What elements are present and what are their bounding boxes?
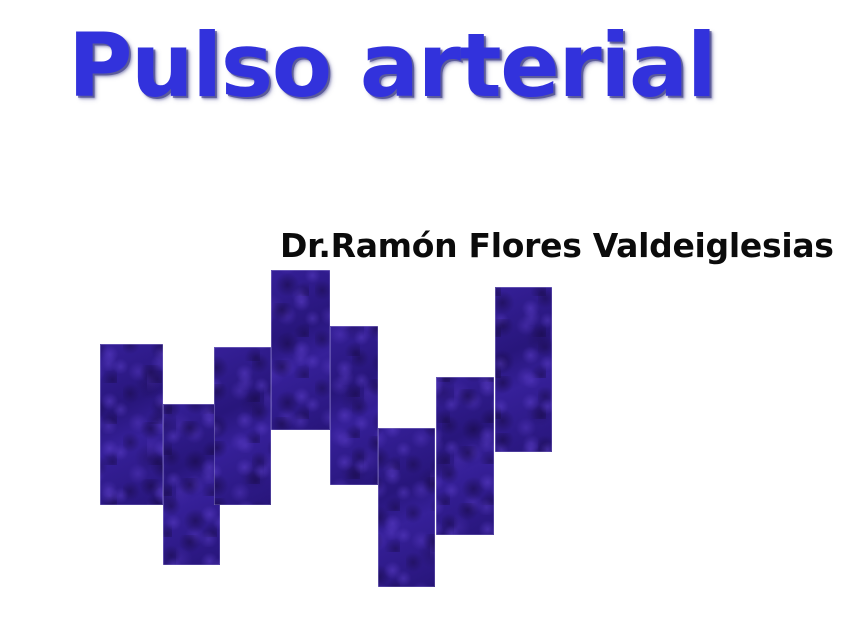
decoration-bar <box>163 404 220 565</box>
decoration-bar <box>330 326 378 485</box>
page-title: Pulso arterial <box>68 18 668 114</box>
decoration-bar <box>214 347 271 505</box>
decoration-bar <box>436 377 494 535</box>
slide-author-subtitle: Dr.Ramón Flores Valdeiglesias <box>280 226 780 266</box>
decoration-bar <box>271 270 330 430</box>
decoration-bar <box>378 428 435 587</box>
decoration-bar <box>100 344 163 505</box>
decoration-bar <box>495 287 552 452</box>
presentation-slide: Pulso arterial Dr.Ramón Flores Valdeigle… <box>0 0 853 640</box>
